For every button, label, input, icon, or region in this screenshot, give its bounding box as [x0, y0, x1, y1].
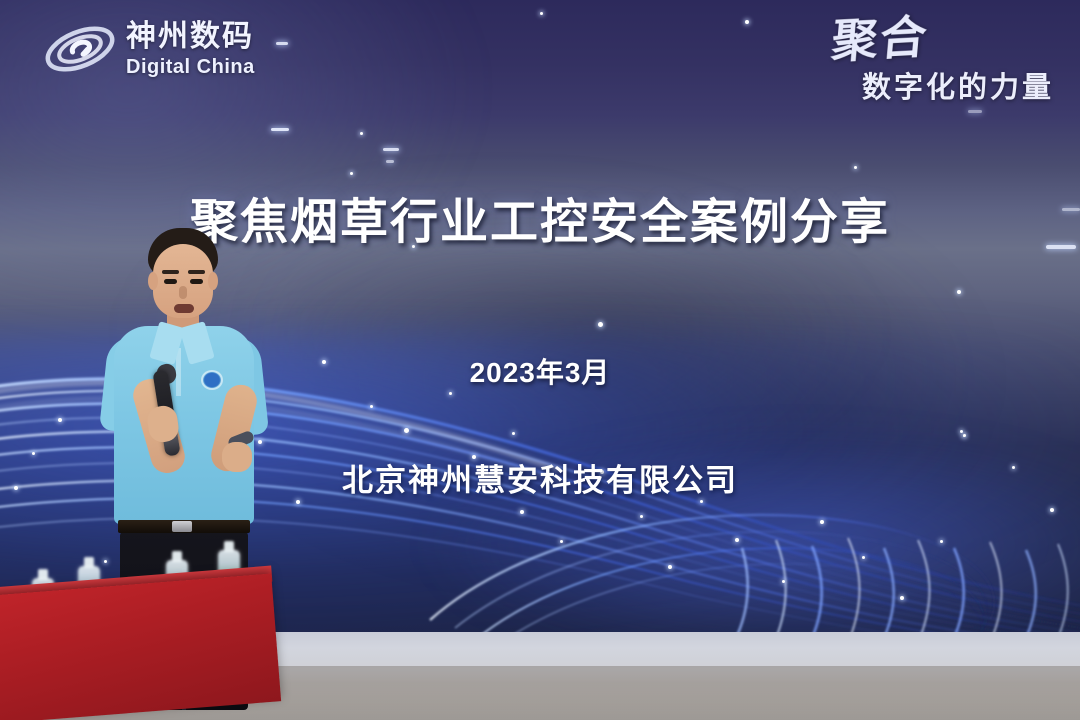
- event-slogan-sub: 数字化的力量: [832, 64, 1054, 106]
- presenter-belt-buckle: [172, 521, 192, 532]
- presenter-eyebrow-left: [162, 270, 179, 274]
- presenter-nose: [179, 286, 187, 299]
- brand-name-en: Digital China: [126, 57, 255, 77]
- red-table-cloth: [0, 574, 281, 720]
- digital-china-swirl-logo-icon: [42, 18, 118, 80]
- presenter-hand-right: [222, 442, 252, 472]
- presenter-eyebrow-right: [188, 270, 205, 274]
- brand-logo: 神州数码 Digital China: [42, 18, 255, 80]
- brand-logo-text: 神州数码 Digital China: [126, 22, 255, 77]
- conference-photo: 神州数码 Digital China 聚合 数字化的力量 聚焦烟草行业工控安全案…: [0, 0, 1080, 720]
- event-slogan-brush: 聚合: [830, 16, 930, 65]
- presenter-ear-left: [148, 272, 158, 290]
- brand-name-cn: 神州数码: [126, 22, 255, 52]
- presenter-ear-right: [208, 272, 218, 290]
- presenter-chest-logo-icon: [201, 370, 223, 390]
- presenter-eye-right: [190, 279, 203, 284]
- presenter-eye-left: [164, 279, 177, 284]
- presenter-mouth: [174, 304, 194, 313]
- event-slogan: 聚合 数字化的力量: [832, 18, 1054, 106]
